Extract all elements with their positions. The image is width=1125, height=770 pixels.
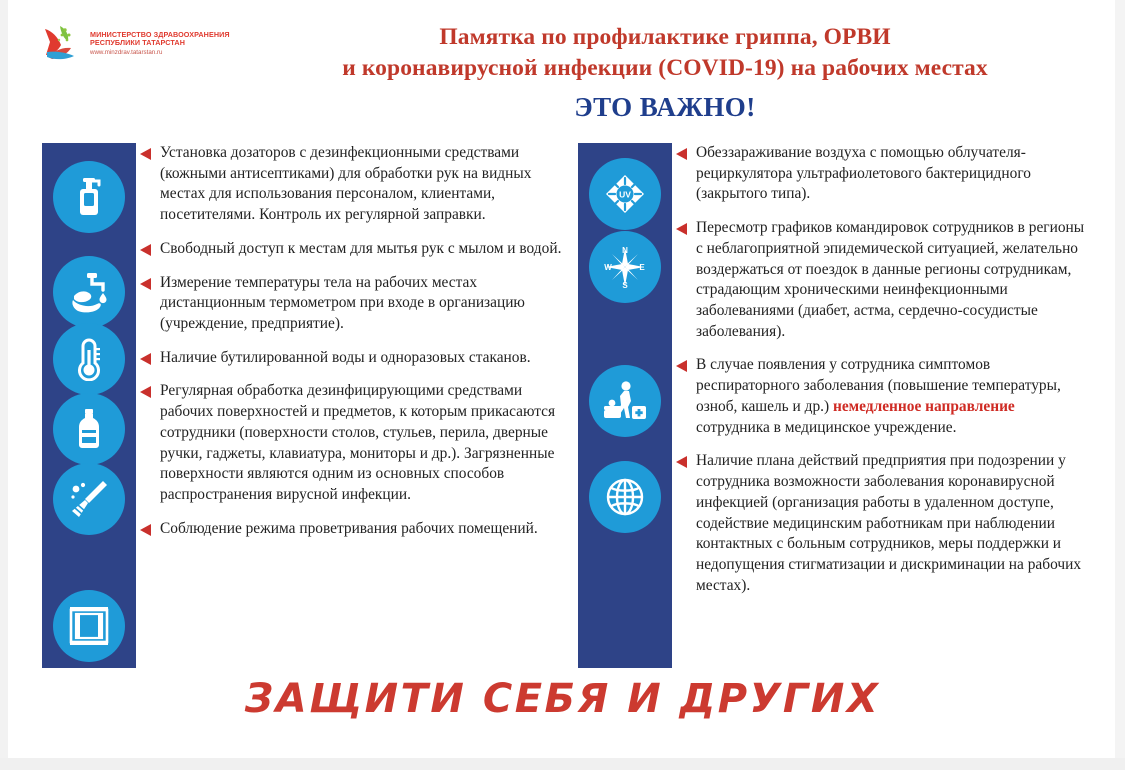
list-item-text: Измерение температуры тела на рабочих ме… — [160, 274, 525, 332]
bullet-arrow-icon — [676, 223, 687, 235]
list-item: Регулярная обработка дезинфицирующими ср… — [136, 381, 562, 505]
ministry-logo-text: МИНИСТЕРСТВО ЗДРАВООХРАНЕНИЯ РЕСПУБЛИКИ … — [90, 31, 230, 57]
page-title-line-1: Памятка по профилактике гриппа, ОРВИ — [230, 22, 1100, 53]
list-item: Измерение температуры тела на рабочих ме… — [136, 273, 562, 335]
left-column-items: Установка дозаторов с дезинфекционными с… — [136, 143, 562, 553]
right-column-items: Обеззараживание воздуха с помощью облуча… — [672, 143, 1090, 609]
page-title-emphasis: ЭТО ВАЖНО! — [230, 92, 1100, 123]
list-item-text: Наличие плана действий предприятия при п… — [696, 452, 1081, 593]
list-item-text-tail: сотрудника в медицинское учреждение. — [696, 419, 956, 436]
page-edge-bottom — [0, 758, 1125, 770]
list-item: Наличие плана действий предприятия при п… — [672, 451, 1090, 596]
uv-recirculator-lamp-icon: UV — [589, 158, 661, 230]
list-item-text: Наличие бутилированной воды и одноразовы… — [160, 349, 531, 366]
svg-text:E: E — [639, 263, 645, 272]
list-item-text: Пересмотр графиков командировок сотрудни… — [696, 219, 1084, 340]
list-item: Свободный доступ к местам для мытья рук … — [136, 239, 562, 260]
list-item: Пересмотр графиков командировок сотрудни… — [672, 218, 1090, 342]
svg-text:S: S — [622, 281, 628, 290]
handwashing-faucet-icon — [53, 256, 125, 328]
compass-rose-icon: N S W E — [589, 231, 661, 303]
tatarstan-health-ministry-logo-icon — [38, 21, 84, 67]
list-item-text: Обеззараживание воздуха с помощью облуча… — [696, 144, 1031, 202]
list-item-text: Соблюдение режима проветривания рабочих … — [160, 520, 538, 537]
thermometer-icon — [53, 323, 125, 395]
bullet-arrow-icon — [140, 278, 151, 290]
list-item-highlight: немедленное направление — [833, 398, 1015, 415]
list-item-text: Установка дозаторов с дезинфекционными с… — [160, 144, 531, 223]
poster-page: МИНИСТЕРСТВО ЗДРАВООХРАНЕНИЯ РЕСПУБЛИКИ … — [0, 0, 1125, 770]
svg-text:N: N — [622, 246, 628, 255]
bullet-arrow-icon — [140, 386, 151, 398]
sanitizer-dispenser-icon — [53, 161, 125, 233]
window-ventilation-icon — [53, 590, 125, 662]
list-item: Обеззараживание воздуха с помощью облуча… — [672, 143, 1090, 205]
bullet-arrow-icon — [676, 148, 687, 160]
left-icon-bar — [42, 143, 136, 668]
svg-text:W: W — [604, 263, 612, 272]
bullet-arrow-icon — [676, 360, 687, 372]
medical-care-stretcher-icon — [589, 365, 661, 437]
bullet-arrow-icon — [140, 244, 151, 256]
list-item: Установка дозаторов с дезинфекционными с… — [136, 143, 562, 226]
water-bottle-icon — [53, 393, 125, 465]
ministry-logo: МИНИСТЕРСТВО ЗДРАВООХРАНЕНИЯ РЕСПУБЛИКИ … — [38, 20, 213, 68]
page-title-line-2: и коронавирусной инфекции (COVID-19) на … — [230, 53, 1100, 84]
footer-slogan: ЗАЩИТИ СЕБЯ И ДРУГИХ — [0, 676, 1125, 722]
list-item-text: Свободный доступ к местам для мытья рук … — [160, 240, 561, 257]
right-icon-bar: UV — [578, 143, 672, 668]
list-item-text: Регулярная обработка дезинфицирующими ср… — [160, 382, 555, 503]
ministry-logo-line2: РЕСПУБЛИКИ ТАТАРСТАН — [90, 39, 230, 47]
bullet-arrow-icon — [676, 456, 687, 468]
globe-icon — [589, 461, 661, 533]
list-item: Наличие бутилированной воды и одноразовы… — [136, 348, 562, 369]
ministry-logo-url: www.minzdrav.tatarstan.ru — [90, 50, 230, 57]
bullet-arrow-icon — [140, 353, 151, 365]
bullet-arrow-icon — [140, 148, 151, 160]
list-item: В случае появления у сотрудника симптомо… — [672, 355, 1090, 438]
svg-text:UV: UV — [619, 190, 631, 200]
poster-header: МИНИСТЕРСТВО ЗДРАВООХРАНЕНИЯ РЕСПУБЛИКИ … — [0, 0, 1125, 130]
list-item: Соблюдение режима проветривания рабочих … — [136, 519, 562, 540]
broom-cleaning-icon — [53, 463, 125, 535]
bullet-arrow-icon — [140, 524, 151, 536]
poster-title-block: Памятка по профилактике гриппа, ОРВИ и к… — [230, 22, 1100, 123]
